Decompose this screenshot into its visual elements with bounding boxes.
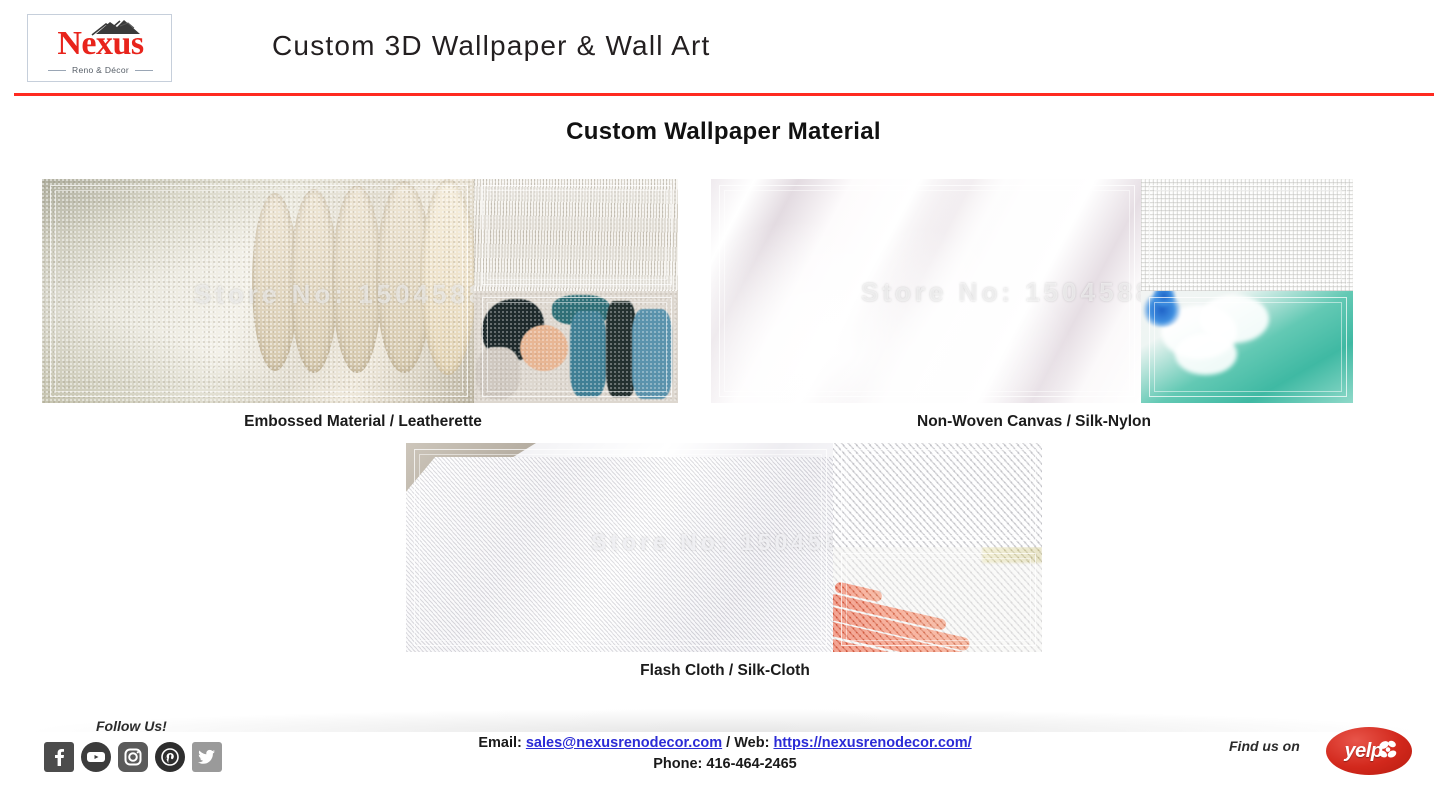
thumb-texture [1141,179,1353,291]
page-header: Nexus Reno & Décor Custom 3D Wallpaper &… [0,0,1447,96]
logo-tagline: Reno & Décor [72,65,129,75]
material-images-flash-cloth: Store No: 1504588 [406,443,1042,652]
material-group-embossed[interactable]: Store No: 1504588 [42,179,684,441]
material-group-flash-cloth[interactable]: Store No: 1504588 [406,443,1044,691]
material-thumb-floral-print[interactable] [1141,291,1353,403]
thumb-weave-overlay [833,547,1042,652]
phone-label: Phone: [653,756,702,772]
page-title: Custom 3D Wallpaper & Wall Art [272,30,711,62]
email-link[interactable]: sales@nexusrenodecor.com [526,735,722,751]
yelp-burst-icon [1377,739,1399,761]
thumb-emboss-texture [474,291,678,403]
find-us-on-label: Find us on [1229,738,1300,754]
material-caption-non-woven: Non-Woven Canvas / Silk-Nylon [711,413,1357,431]
facebook-icon[interactable] [44,742,74,772]
flash-twill-texture [406,457,833,652]
roll-emboss-texture [42,179,474,403]
company-logo[interactable]: Nexus Reno & Décor [27,14,172,82]
follow-us-label: Follow Us! [96,718,167,734]
phone-number: 416-464-2465 [706,756,796,772]
material-thumb-embossed-texture[interactable] [474,179,678,291]
material-photo-embossed-roll[interactable]: Store No: 1504588 [42,179,474,403]
material-thumbs-non-woven [1141,179,1353,403]
silk-sheen [711,179,1141,403]
header-divider [14,93,1434,96]
yelp-badge[interactable]: yelp [1326,727,1412,775]
logo-wordmark: Nexus [28,25,173,63]
material-photo-flash-cloth[interactable]: Store No: 1504588 [406,443,833,652]
material-photo-silk-fabric[interactable]: Store No: 1504588 [711,179,1141,403]
social-links-row [44,742,222,772]
footer-sheen [0,708,1447,732]
flash-sheet [406,457,833,652]
web-label: Web: [734,735,769,751]
thumb-texture [474,179,678,291]
material-caption-flash-cloth: Flash Cloth / Silk-Cloth [406,662,1044,680]
logo-tagline-row: Reno & Décor [28,65,173,75]
contact-line-email-web: Email: sales@nexusrenodecor.com / Web: h… [330,733,1120,754]
twitter-icon[interactable] [192,742,222,772]
material-group-non-woven[interactable]: Store No: 1504588 [711,179,1357,441]
material-thumb-leatherette-print[interactable] [474,291,678,403]
slide-page: Nexus Reno & Décor Custom 3D Wallpaper &… [0,0,1447,800]
material-images-embossed: Store No: 1504588 [42,179,678,403]
contact-separator: / [726,735,730,751]
thumb-texture [833,443,1042,547]
material-caption-embossed: Embossed Material / Leatherette [42,413,684,431]
instagram-icon[interactable] [118,742,148,772]
contact-info: Email: sales@nexusrenodecor.com / Web: h… [330,733,1120,775]
logo-rule-right [135,70,153,71]
material-thumb-red-stripe-print[interactable] [833,547,1042,652]
logo-rule-left [48,70,66,71]
material-thumb-silk-weave[interactable] [833,443,1042,547]
youtube-icon[interactable] [81,742,111,772]
email-label: Email: [478,735,522,751]
contact-line-phone: Phone: 416-464-2465 [330,754,1120,775]
material-images-non-woven: Store No: 1504588 [711,179,1353,403]
material-thumb-canvas-weave[interactable] [1141,179,1353,291]
pinterest-icon[interactable] [155,742,185,772]
website-link[interactable]: https://nexusrenodecor.com/ [773,735,971,751]
section-heading: Custom Wallpaper Material [0,118,1447,146]
material-thumbs-embossed [474,179,678,403]
material-thumbs-flash-cloth [833,443,1042,652]
